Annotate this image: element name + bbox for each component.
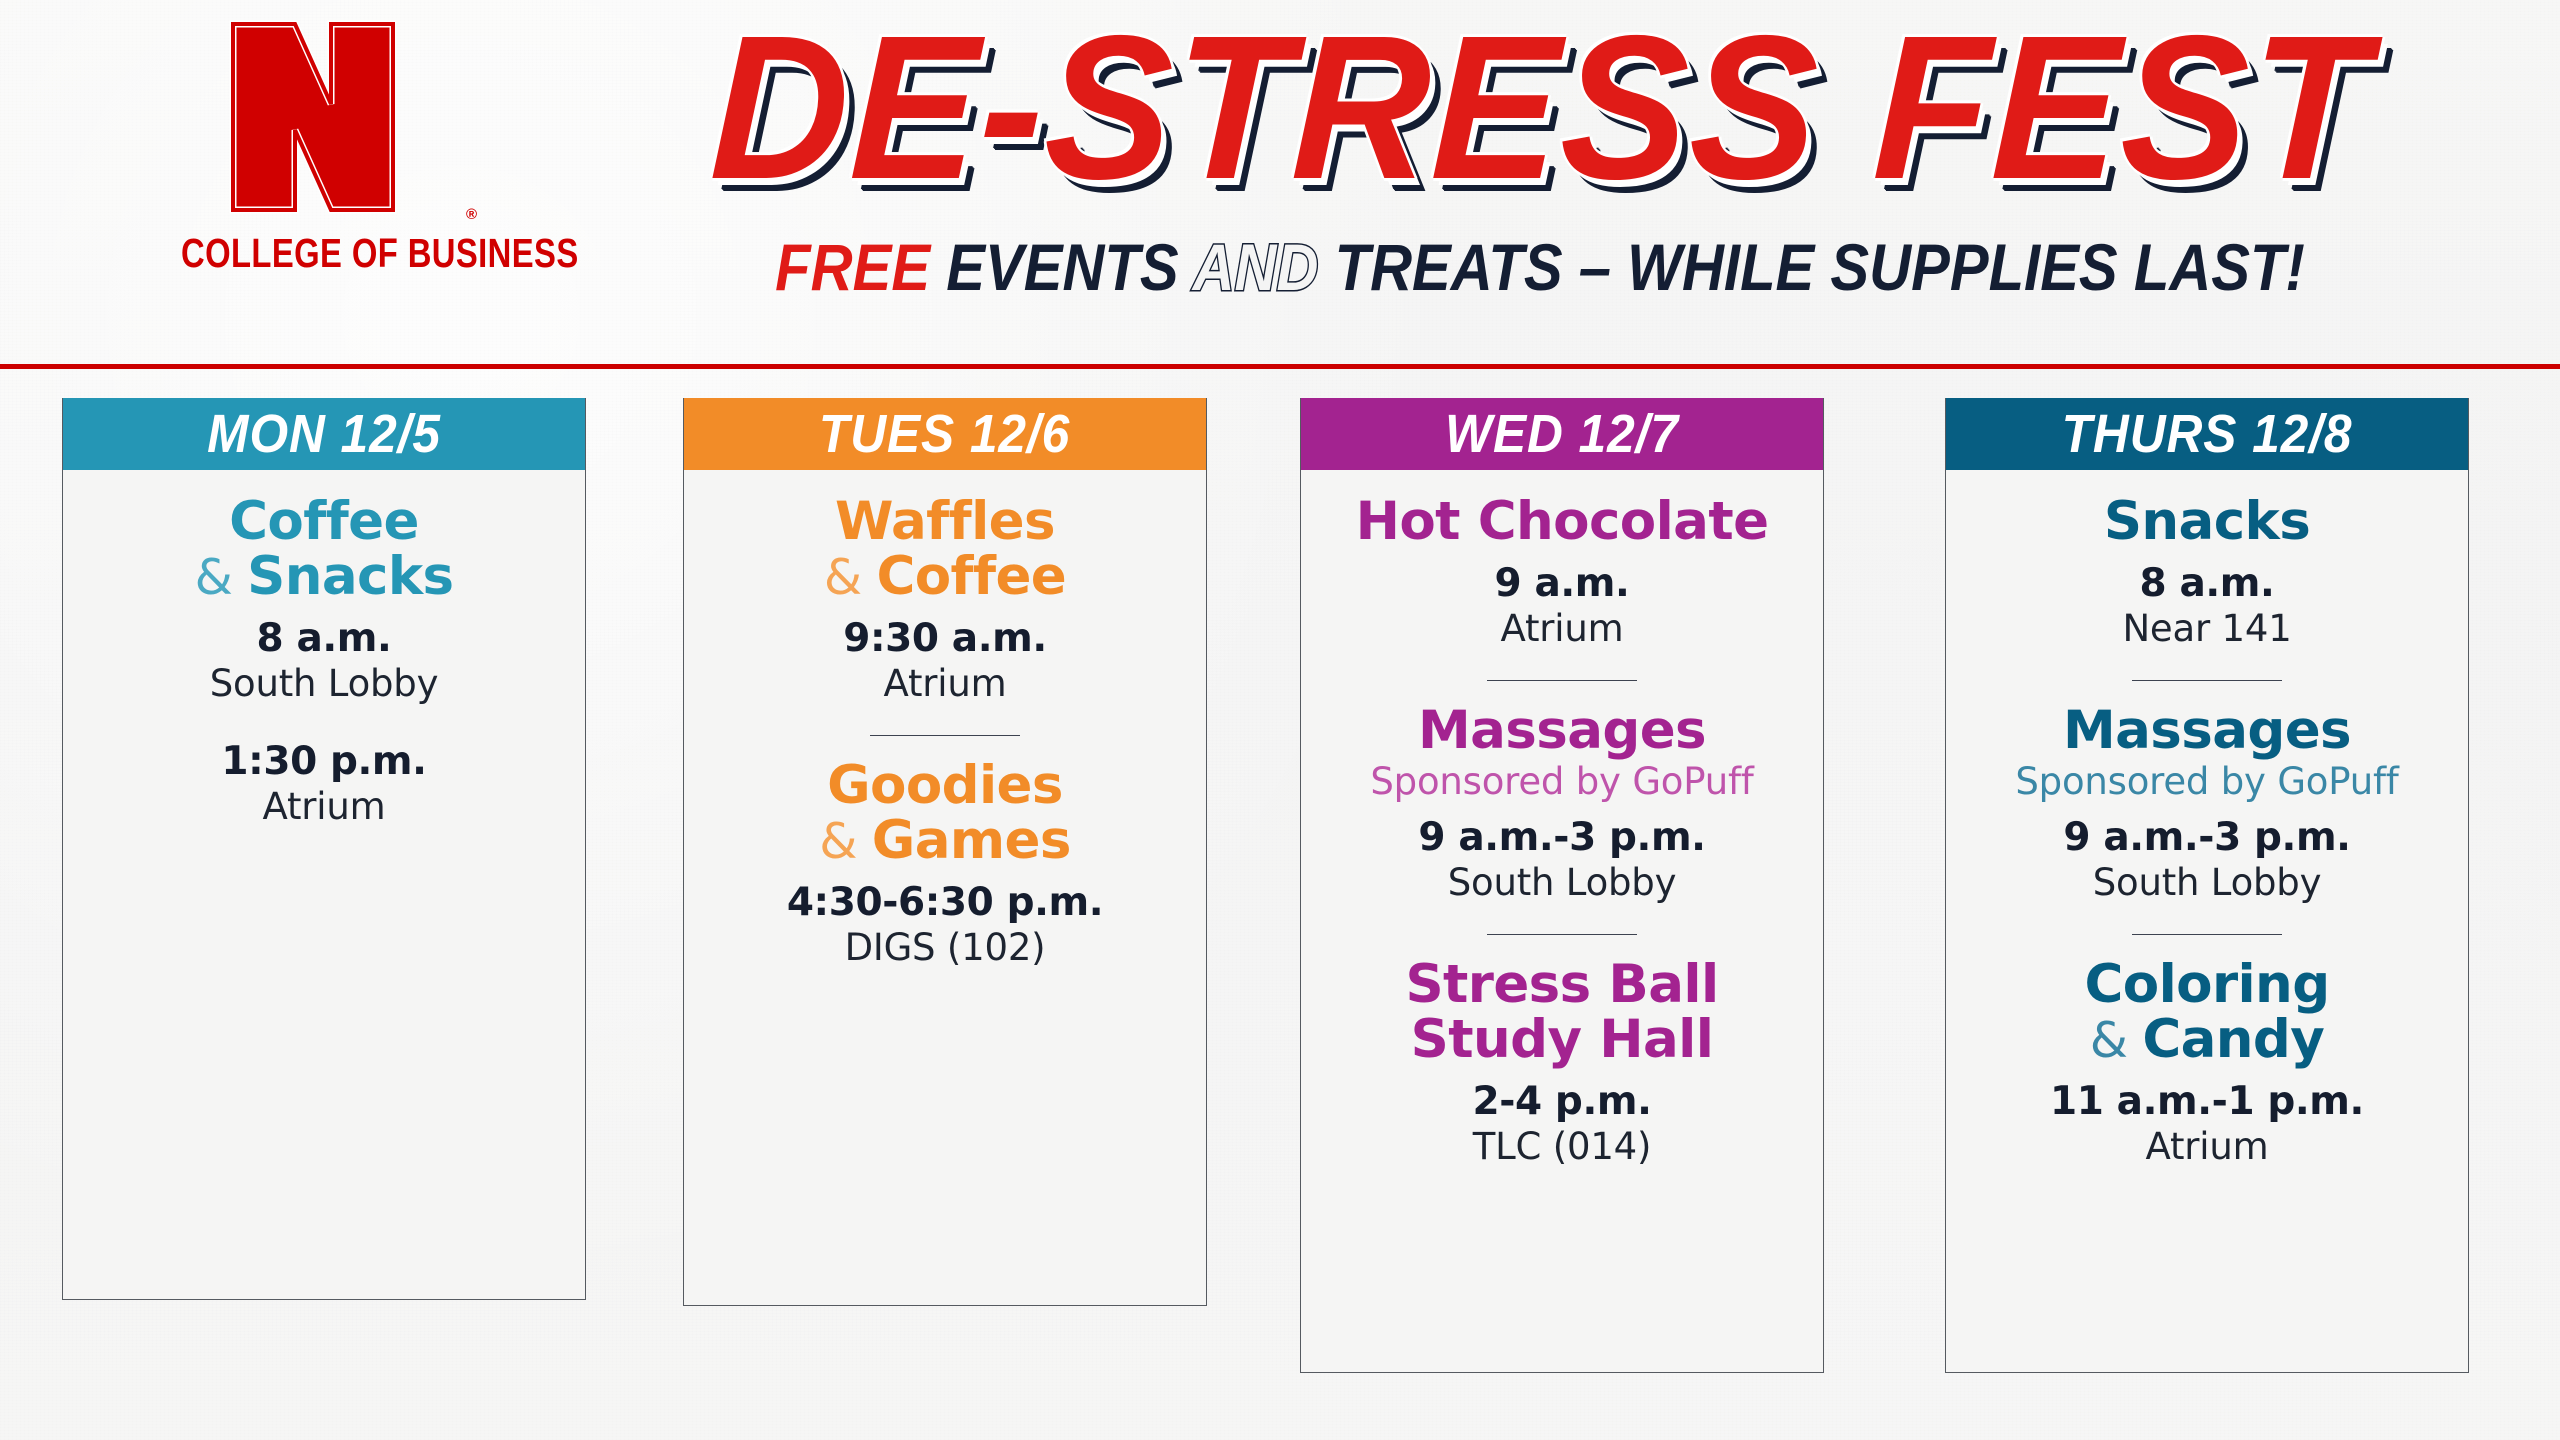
event-block: Stress BallStudy Hall2-4 p.m.TLC (014) (1317, 957, 1807, 1168)
subtitle-and-word: AND (1193, 230, 1319, 304)
event-block: 1:30 p.m.Atrium (79, 739, 569, 828)
event-location: Atrium (700, 662, 1190, 705)
event-title-text: Coffee (876, 546, 1066, 607)
day-card-thurs-12-8: THURS 12/8Snacks8 a.m.Near 141MassagesSp… (1945, 398, 2469, 1373)
day-card-header: THURS 12/8 (1946, 398, 2468, 470)
subtitle-events-word: EVENTS (946, 230, 1178, 304)
event-title-line: & Candy (1962, 1012, 2452, 1067)
header-red-divider (0, 364, 2560, 369)
event-title-line: Goodies (700, 758, 1190, 813)
event-title-line: Stress Ball (1317, 957, 1807, 1012)
event-title-line: Waffles (700, 494, 1190, 549)
event-location: Atrium (79, 785, 569, 828)
event-time: 9 a.m.-3 p.m. (1962, 815, 2452, 860)
event-location: Atrium (1317, 607, 1807, 650)
subtitle-free-word: FREE (775, 230, 930, 304)
ampersand-glyph: & (2090, 1012, 2143, 1069)
event-time: 9 a.m. (1317, 561, 1807, 606)
poster-header: ® COLLEGE OF BUSINESS DE-STRESS FEST FRE… (0, 0, 2560, 366)
event-divider (870, 735, 1020, 736)
event-title-line: Hot Chocolate (1317, 494, 1807, 549)
page-subtitle: FREE EVENTS AND TREATS – WHILE SUPPLIES … (678, 229, 2403, 305)
event-time: 9 a.m.-3 p.m. (1317, 815, 1807, 860)
event-title-text: Candy (2142, 1009, 2324, 1070)
event-location: TLC (014) (1317, 1125, 1807, 1168)
event-time: 8 a.m. (79, 616, 569, 661)
event-sponsor: Sponsored by GoPuff (1962, 760, 2452, 803)
event-title-line: Study Hall (1317, 1012, 1807, 1067)
nebraska-n-logo (227, 18, 399, 216)
page-title: DE-STRESS FEST (625, 8, 2454, 209)
event-location: DIGS (102) (700, 926, 1190, 969)
event-title-text: Games (872, 810, 1071, 871)
event-block: Hot Chocolate9 a.m.Atrium (1317, 494, 1807, 650)
event-location: Near 141 (1962, 607, 2452, 650)
event-location: South Lobby (1962, 861, 2452, 904)
event-location: South Lobby (1317, 861, 1807, 904)
subtitle-remainder: TREATS – WHILE SUPPLIES LAST! (1335, 230, 2305, 304)
day-card-body: Snacks8 a.m.Near 141MassagesSponsored by… (1946, 470, 2468, 1194)
event-time: 11 a.m.-1 p.m. (1962, 1079, 2452, 1124)
registered-trademark-mark: ® (466, 206, 477, 223)
event-title-line: Coloring (1962, 957, 2452, 1012)
event-divider (2132, 934, 2282, 935)
event-divider (1487, 680, 1637, 681)
day-card-header: MON 12/5 (63, 398, 585, 470)
ampersand-glyph: & (819, 813, 872, 870)
event-title-line: & Games (700, 813, 1190, 868)
event-time: 9:30 a.m. (700, 616, 1190, 661)
event-location: South Lobby (79, 662, 569, 705)
event-title-line: & Coffee (700, 549, 1190, 604)
ampersand-glyph: & (824, 549, 877, 606)
event-divider (2132, 680, 2282, 681)
day-card-header-label: THURS 12/8 (2062, 403, 2353, 465)
day-card-mon-12-5: MON 12/5Coffee& Snacks8 a.m.South Lobby1… (62, 398, 586, 1300)
day-card-tues-12-6: TUES 12/6Waffles& Coffee9:30 a.m.AtriumG… (683, 398, 1207, 1306)
event-time: 1:30 p.m. (79, 739, 569, 784)
event-title-line: Snacks (1962, 494, 2452, 549)
event-time: 2-4 p.m. (1317, 1079, 1807, 1124)
event-block: Coloring& Candy11 a.m.-1 p.m.Atrium (1962, 957, 2452, 1168)
event-block: MassagesSponsored by GoPuff9 a.m.-3 p.m.… (1962, 703, 2452, 904)
day-card-header-label: MON 12/5 (207, 403, 441, 465)
day-card-header: TUES 12/6 (684, 398, 1206, 470)
poster-canvas: ® COLLEGE OF BUSINESS DE-STRESS FEST FRE… (0, 0, 2560, 1440)
event-title-line: Massages (1317, 703, 1807, 758)
day-card-body: Coffee& Snacks8 a.m.South Lobby1:30 p.m.… (63, 470, 585, 854)
brand-lockup: ® COLLEGE OF BUSINESS (148, 18, 478, 277)
event-sponsor: Sponsored by GoPuff (1317, 760, 1807, 803)
event-location: Atrium (1962, 1125, 2452, 1168)
ampersand-glyph: & (195, 549, 248, 606)
event-time: 8 a.m. (1962, 561, 2452, 606)
event-block: Coffee& Snacks8 a.m.South Lobby (79, 494, 569, 705)
event-title-line: Massages (1962, 703, 2452, 758)
title-block: DE-STRESS FEST FREE EVENTS AND TREATS – … (560, 8, 2520, 305)
event-divider (1487, 934, 1637, 935)
day-card-body: Waffles& Coffee9:30 a.m.AtriumGoodies& G… (684, 470, 1206, 995)
event-title-text: Snacks (247, 546, 453, 607)
day-card-wed-12-7: WED 12/7Hot Chocolate9 a.m.AtriumMassage… (1300, 398, 1824, 1373)
event-block: Goodies& Games4:30-6:30 p.m.DIGS (102) (700, 758, 1190, 969)
college-of-business-wordmark: COLLEGE OF BUSINESS (181, 230, 445, 277)
event-title-line: & Snacks (79, 549, 569, 604)
event-time: 4:30-6:30 p.m. (700, 880, 1190, 925)
event-block: MassagesSponsored by GoPuff9 a.m.-3 p.m.… (1317, 703, 1807, 904)
event-block: Waffles& Coffee9:30 a.m.Atrium (700, 494, 1190, 705)
event-title-line: Coffee (79, 494, 569, 549)
day-card-header-label: WED 12/7 (1445, 403, 1679, 465)
event-block: Snacks8 a.m.Near 141 (1962, 494, 2452, 650)
day-card-body: Hot Chocolate9 a.m.AtriumMassagesSponsor… (1301, 470, 1823, 1194)
day-card-header-label: TUES 12/6 (819, 403, 1070, 465)
day-card-header: WED 12/7 (1301, 398, 1823, 470)
